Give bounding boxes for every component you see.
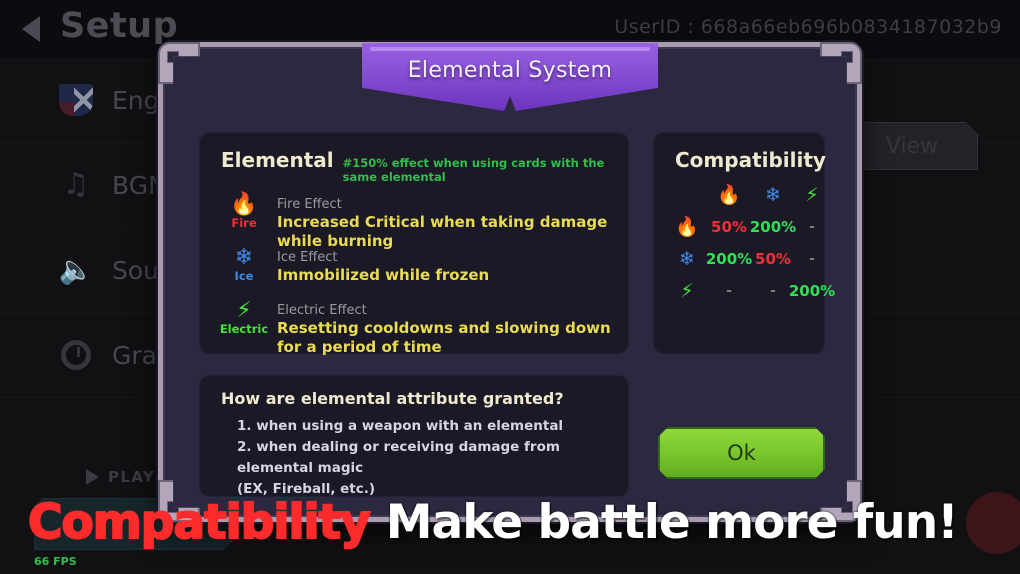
- elemental-subtitle: #150% effect when using cards with the s…: [343, 156, 629, 184]
- fire-label: Fire: [231, 217, 256, 229]
- caption-overlay: Compatibility Make battle more fun!: [28, 495, 958, 550]
- back-arrow-icon[interactable]: [22, 16, 40, 42]
- elemental-header: Elemental #150% effect when using cards …: [199, 132, 629, 184]
- banner-highlight: [370, 47, 650, 51]
- page-title: Setup: [60, 6, 178, 46]
- electric-icon: ⚡ Electric: [221, 300, 267, 335]
- user-id-label: UserID : 668a66eb696b0834187032b9: [614, 16, 1002, 38]
- row-header-electric-icon: ⚡: [680, 280, 693, 302]
- matrix-cell-ice-ice: 50%: [755, 250, 791, 268]
- electric-label: Electric: [220, 323, 268, 335]
- elemental-row-ice: ❄ Ice Ice Effect Immobilized while froze…: [221, 247, 629, 300]
- matrix-cell-fire-ice: 200%: [750, 218, 796, 236]
- fire-effect-texts: Fire Effect Increased Critical when taki…: [277, 194, 629, 251]
- matrix-cell-fire-fire: 50%: [711, 218, 747, 236]
- electric-effect-texts: Electric Effect Resetting cooldowns and …: [277, 300, 629, 357]
- speaker-icon: 🔈: [56, 250, 96, 290]
- how-item: 2. when dealing or receiving damage from…: [237, 437, 629, 479]
- elemental-panel: Elemental #150% effect when using cards …: [199, 132, 629, 354]
- matrix-cell-fire-electric: -: [809, 219, 815, 235]
- play-icon: [86, 469, 99, 485]
- ice-glyph: ❄: [235, 247, 253, 269]
- matrix-cell-ice-fire: 200%: [706, 250, 752, 268]
- ice-effect-texts: Ice Effect Immobilized while frozen: [277, 247, 489, 285]
- ice-effect-desc: Immobilized while frozen: [277, 266, 489, 285]
- dialog-title: Elemental System: [408, 58, 613, 83]
- column-header-ice-icon: ❄: [765, 184, 781, 206]
- row-header-fire-icon: 🔥: [675, 216, 699, 238]
- matrix-cell-electric-electric: 200%: [789, 282, 835, 300]
- elemental-system-dialog: Elemental System Elemental #150% effect …: [158, 42, 862, 522]
- compatibility-title: Compatibility: [675, 148, 826, 172]
- ice-label: Ice: [235, 270, 254, 282]
- electric-effect-desc: Resetting cooldowns and slowing down for…: [277, 319, 629, 357]
- ok-button[interactable]: Ok: [658, 427, 825, 479]
- electric-glyph: ⚡: [236, 300, 251, 322]
- compatibility-header: Compatibility: [653, 132, 825, 172]
- flag-icon: [56, 80, 96, 120]
- fire-effect-desc: Increased Critical when taking damage wh…: [277, 213, 629, 251]
- how-granted-list: 1. when using a weapon with an elemental…: [199, 408, 629, 500]
- column-header-fire-icon: 🔥: [717, 184, 741, 206]
- fire-icon: 🔥 Fire: [221, 194, 267, 229]
- fire-glyph: 🔥: [230, 194, 257, 216]
- gauge-icon: [56, 335, 96, 375]
- caption-text: Make battle more fun!: [386, 495, 958, 550]
- how-granted-title: How are elemental attribute granted?: [199, 375, 629, 408]
- how-granted-panel: How are elemental attribute granted? 1. …: [199, 375, 629, 497]
- elemental-effect-list: 🔥 Fire Fire Effect Increased Critical wh…: [199, 184, 629, 353]
- elemental-row-fire: 🔥 Fire Fire Effect Increased Critical wh…: [221, 194, 629, 247]
- how-item: 1. when using a weapon with an elemental: [237, 416, 629, 437]
- electric-effect-title: Electric Effect: [277, 302, 629, 319]
- matrix-cell-electric-fire: -: [726, 283, 732, 299]
- ice-icon: ❄ Ice: [221, 247, 267, 282]
- compatibility-matrix: 🔥 ❄ ⚡ 🔥 50% 200% - ❄ 200% 50% - ⚡ - - 20…: [653, 172, 825, 302]
- ice-effect-title: Ice Effect: [277, 249, 489, 266]
- elemental-title: Elemental: [221, 148, 334, 172]
- fire-effect-title: Fire Effect: [277, 196, 629, 213]
- matrix-cell-electric-ice: -: [770, 283, 776, 299]
- game-screen: Setup UserID : 668a66eb696b0834187032b9 …: [0, 0, 1020, 574]
- column-header-electric-icon: ⚡: [805, 184, 818, 206]
- elemental-row-electric: ⚡ Electric Electric Effect Resetting coo…: [221, 300, 629, 353]
- view-button[interactable]: View: [846, 122, 978, 170]
- fps-counter: 66 FPS: [34, 555, 77, 568]
- decorative-circle: [966, 492, 1020, 554]
- matrix-cell-ice-electric: -: [809, 251, 815, 267]
- music-note-icon: ♫: [56, 165, 96, 205]
- compatibility-panel: Compatibility 🔥 ❄ ⚡ 🔥 50% 200% - ❄ 200% …: [653, 132, 825, 354]
- caption-highlight: Compatibility: [28, 495, 370, 550]
- row-header-ice-icon: ❄: [679, 248, 695, 270]
